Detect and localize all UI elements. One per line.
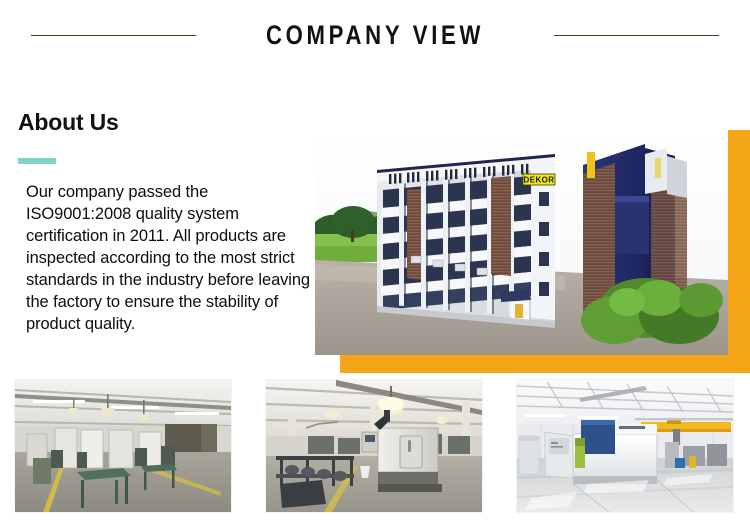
factory-gallery xyxy=(15,380,735,512)
header-rule-right xyxy=(554,35,719,36)
workshop-machines-illustration xyxy=(15,380,231,512)
hero-accent-right xyxy=(728,130,750,373)
about-us-block: About Us Our company passed the ISO9001:… xyxy=(18,110,310,336)
page-title: COMPANY VIEW xyxy=(266,22,484,49)
about-accent-bar xyxy=(18,158,56,164)
workshop-machines-photo xyxy=(15,380,231,512)
about-us-heading: About Us xyxy=(18,110,310,135)
modern-machine-hall-illustration xyxy=(517,380,733,512)
about-us-body: Our company passed the ISO9001:2008 qual… xyxy=(26,182,310,336)
cnc-production-line-photo xyxy=(266,380,482,512)
hero-photo-frame: DEKOR xyxy=(315,130,750,373)
factory-building-illustration: DEKOR xyxy=(315,130,728,355)
hero-accent-bottom xyxy=(340,355,750,373)
dekor-sign-text: DEKOR xyxy=(524,176,555,185)
factory-building-photo: DEKOR xyxy=(315,130,728,355)
company-view-page: COMPANY VIEW About Us Our company passed… xyxy=(0,0,750,520)
modern-machine-hall-photo xyxy=(517,380,733,512)
section-header: COMPANY VIEW xyxy=(0,0,750,70)
header-rule-left xyxy=(31,35,196,36)
cnc-production-line-illustration xyxy=(266,380,482,512)
